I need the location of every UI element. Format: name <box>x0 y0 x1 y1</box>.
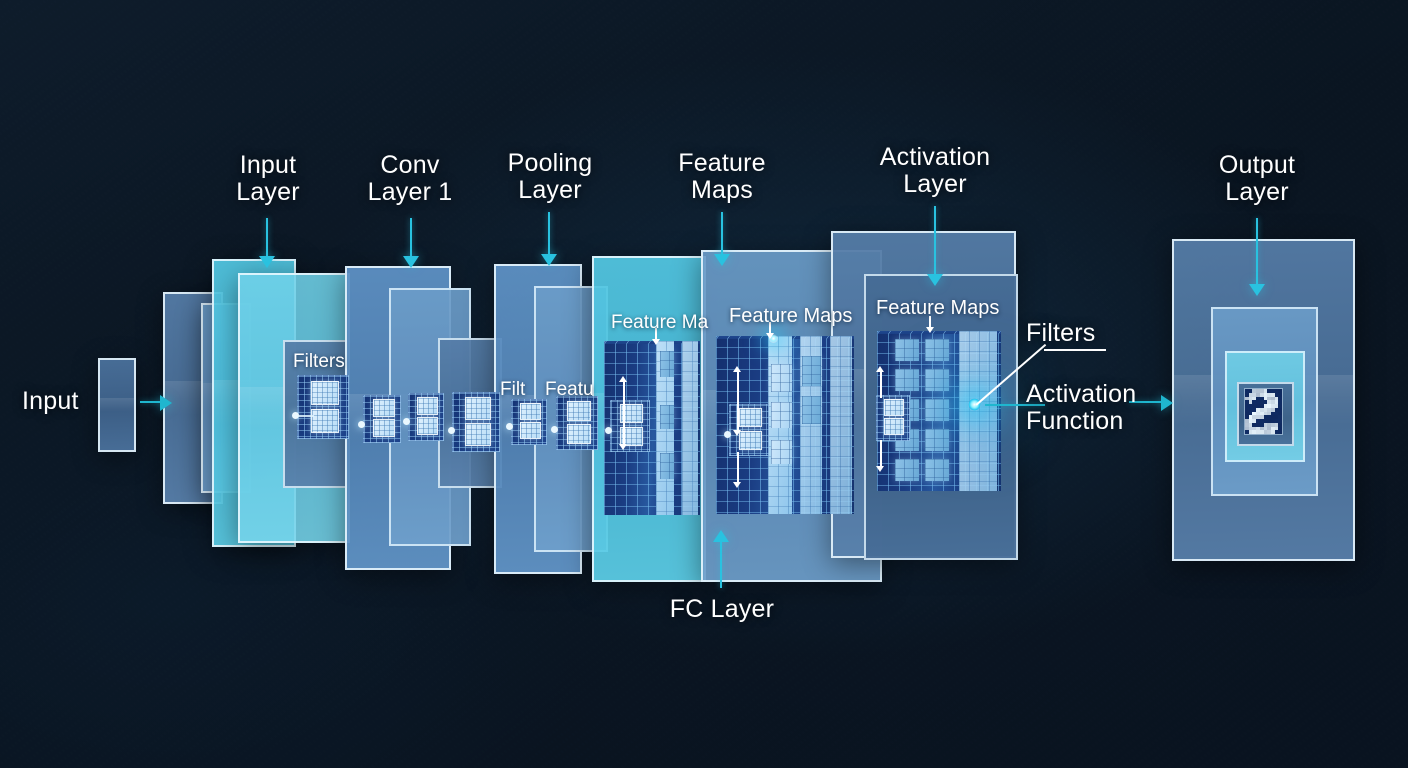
label-input: Input <box>22 388 79 415</box>
label-conv-layer-1: Conv Layer 1 <box>358 152 462 206</box>
filter-node-7 <box>605 427 612 434</box>
caption-filters-2: Filt <box>500 379 525 401</box>
caption-feature-3: Feature Maps <box>729 305 852 328</box>
filter-node-3 <box>403 418 410 425</box>
tower-measure-arrow-1 <box>623 382 625 444</box>
filter-cube-7[interactable] <box>610 400 648 450</box>
filter-node-8 <box>724 431 731 438</box>
filter-cube-5[interactable] <box>511 399 545 443</box>
filter-cube-8[interactable] <box>729 404 767 454</box>
leader-filters-horizontal <box>1044 349 1106 351</box>
label-activation-layer: Activation Layer <box>860 144 1010 198</box>
label-pooling-layer: Pooling Layer <box>498 150 602 204</box>
filter-node-5 <box>506 423 513 430</box>
label-feature-maps-top: Feature Maps <box>672 150 772 204</box>
diagram-canvas: Filters Filt Featu Feature Ma Feature Ma… <box>0 0 1408 768</box>
filter-node-2 <box>358 421 365 428</box>
filter-cube-4[interactable] <box>452 392 498 450</box>
filter-cube-6[interactable] <box>556 396 596 448</box>
output-feature-map <box>1245 389 1282 434</box>
label-fc-layer: FC Layer <box>658 596 786 623</box>
filter-cube-1[interactable] <box>297 375 347 437</box>
tower-measure-arrow-5 <box>880 440 882 466</box>
label-output-layer: Output Layer <box>1198 152 1316 206</box>
label-filters-callout: Filters <box>1026 320 1095 347</box>
tower-measure-arrow-2 <box>737 372 739 430</box>
label-activation-function: Activation Function <box>1026 381 1136 435</box>
filter-cube-3[interactable] <box>408 393 442 439</box>
caption-feature-1: Featu <box>545 379 594 401</box>
tower-measure-arrow-4 <box>880 372 882 398</box>
filter-node-6 <box>551 426 558 433</box>
input-plate[interactable] <box>98 358 136 452</box>
caption-feature-2: Feature Ma <box>611 312 708 334</box>
caption-filters-1: Filters <box>293 351 345 373</box>
filter-cube-9[interactable] <box>876 395 908 439</box>
filter-node-4 <box>448 427 455 434</box>
filter-stem-1 <box>298 415 314 417</box>
tower-measure-arrow-3 <box>737 452 739 482</box>
filter-cube-2[interactable] <box>363 395 399 441</box>
caption-feature-4: Feature Maps <box>876 297 999 320</box>
label-input-layer: Input Layer <box>228 152 308 206</box>
